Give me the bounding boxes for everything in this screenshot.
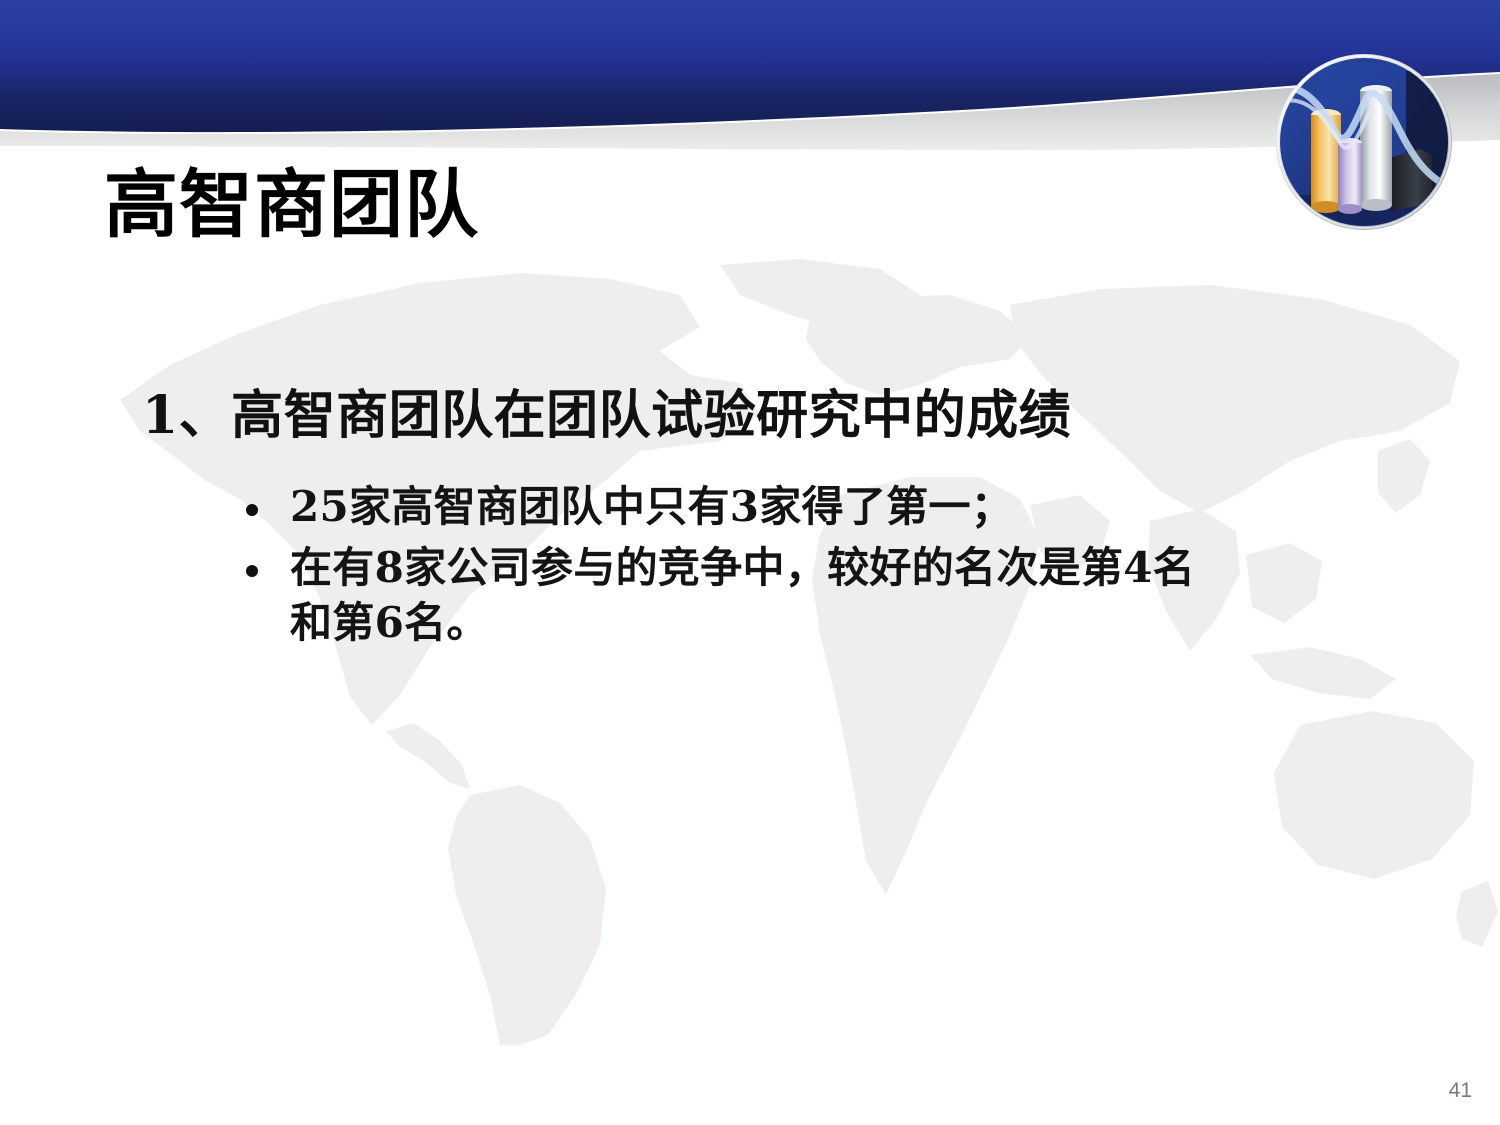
page-number: 41 xyxy=(1449,1079,1472,1103)
bullet-dot-icon xyxy=(246,565,258,577)
list-item: 25家高智商团队中只有3家得了第一； xyxy=(0,480,1400,535)
list-item-text: 在有8家公司参与的竞争中，较好的名次是第4名和第6名。 xyxy=(290,543,1195,647)
slide-body: 1、高智商团队在团队试验研究中的成绩 25家高智商团队中只有3家得了第一； 在有… xyxy=(0,385,1400,656)
list-item: 在有8家公司参与的竞争中，较好的名次是第4名和第6名。 xyxy=(0,541,1400,650)
level1-bullet: 1、高智商团队在团队试验研究中的成绩 xyxy=(0,385,1400,446)
level2-bullet-list: 25家高智商团队中只有3家得了第一； 在有8家公司参与的竞争中，较好的名次是第4… xyxy=(0,480,1400,650)
presentation-slide: 高智商团队 1、高智商团队在团队试验研究中的成绩 25家高智商团队中只有3家得了… xyxy=(0,0,1500,1125)
bullet-dot-icon xyxy=(246,504,258,516)
page-title: 高智商团队 xyxy=(104,166,479,246)
list-item-text: 25家高智商团队中只有3家得了第一； xyxy=(290,482,1013,531)
bar-chart-badge-logo xyxy=(1274,45,1456,237)
